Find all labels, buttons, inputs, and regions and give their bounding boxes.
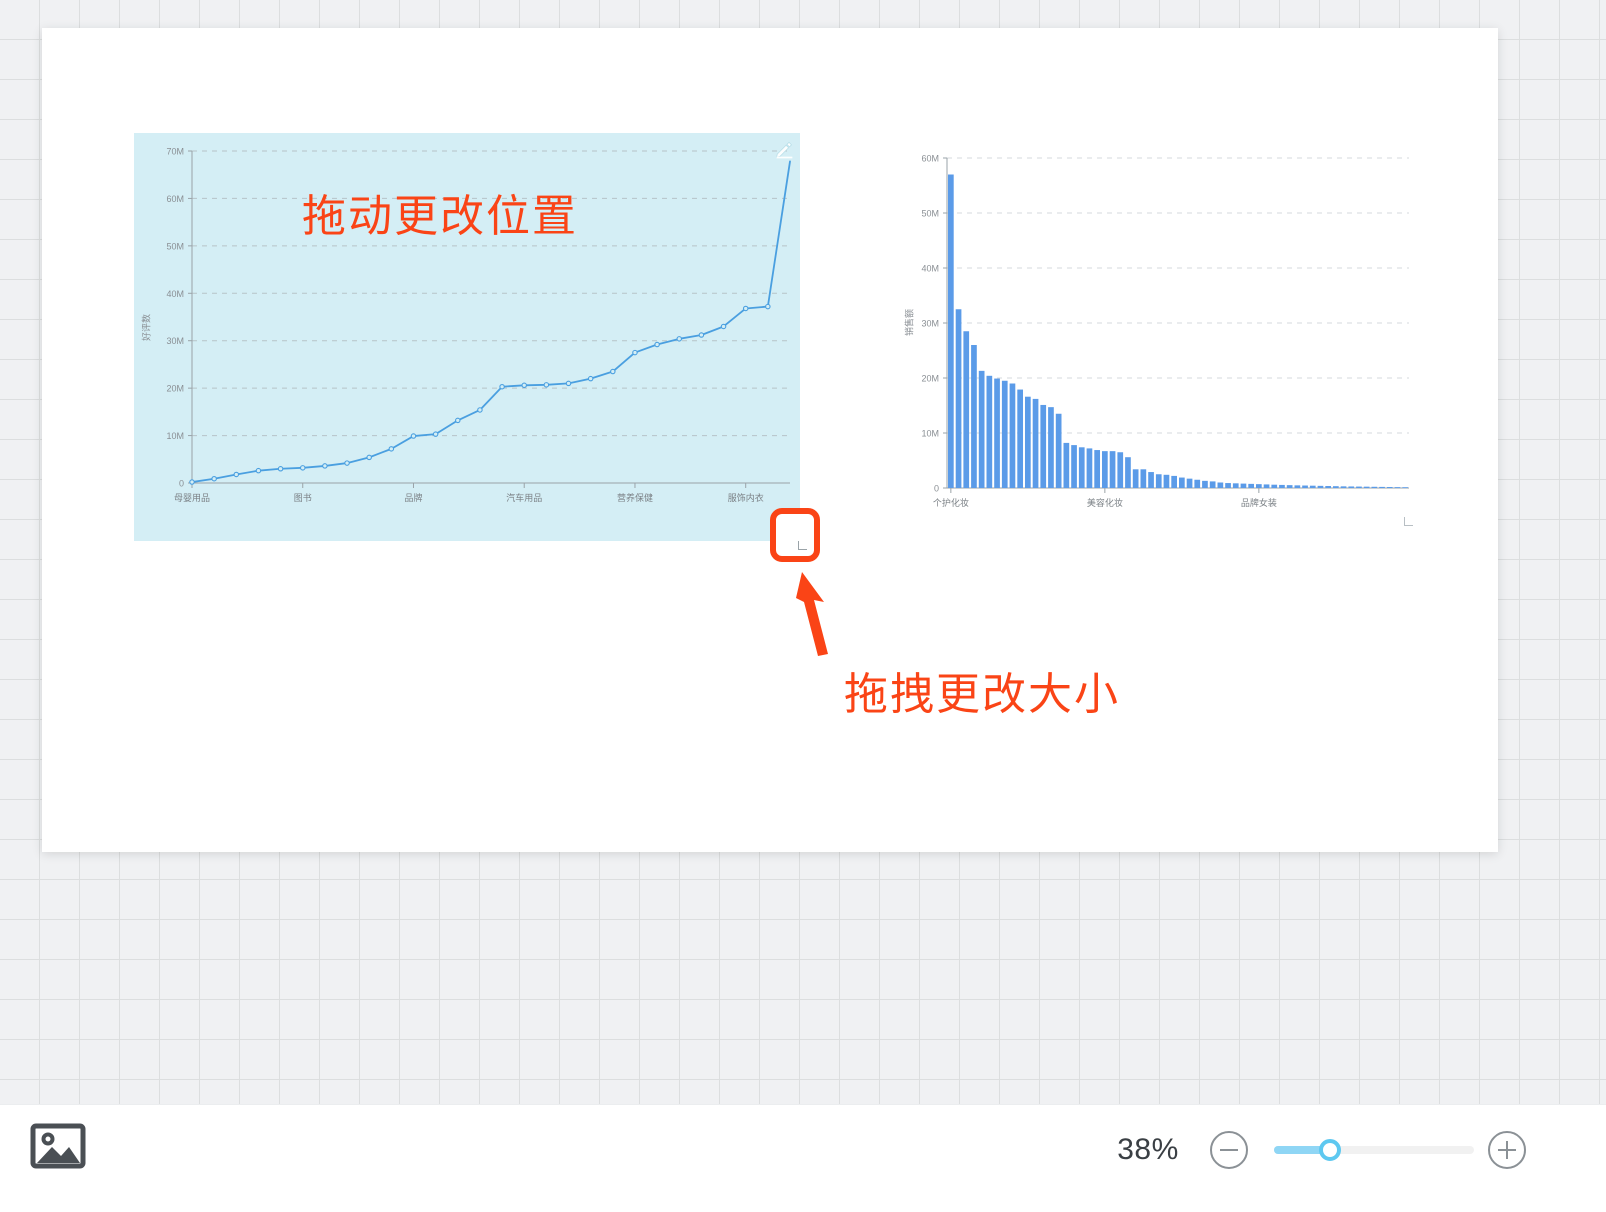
svg-text:0: 0 (179, 479, 184, 489)
zoom-out-button[interactable] (1210, 1131, 1248, 1169)
svg-text:品牌: 品牌 (404, 492, 422, 503)
svg-text:母婴用品: 母婴用品 (174, 493, 210, 503)
svg-text:品牌女装: 品牌女装 (1241, 497, 1277, 508)
image-icon[interactable] (30, 1123, 86, 1169)
pencil-edit-icon[interactable] (774, 139, 794, 159)
zoom-slider[interactable] (1274, 1146, 1474, 1154)
svg-text:50M: 50M (166, 241, 184, 251)
resize-corner-icon[interactable] (798, 541, 807, 550)
svg-text:50M: 50M (921, 209, 939, 219)
zoom-controls: 38% (1100, 1131, 1526, 1169)
annotation-arrow-icon (794, 568, 874, 658)
svg-text:70M: 70M (166, 147, 184, 157)
svg-text:20M: 20M (166, 384, 184, 394)
svg-text:30M: 30M (166, 336, 184, 346)
svg-text:营养保健: 营养保健 (617, 492, 653, 503)
bar-chart-plot: 010M20M30M40M50M60M 个护化妆美容化妆品牌女装 (897, 148, 1417, 528)
bar-chart-y-axis-title: 销售额 (903, 300, 916, 346)
svg-text:40M: 40M (921, 264, 939, 274)
svg-text:汽车用品: 汽车用品 (506, 492, 542, 503)
plus-icon-vertical (1506, 1141, 1508, 1159)
svg-text:个护化妆: 个护化妆 (933, 497, 969, 508)
svg-text:20M: 20M (921, 374, 939, 384)
minus-icon (1220, 1149, 1238, 1151)
svg-text:服饰内衣: 服饰内衣 (728, 492, 764, 503)
annotation-drag-to-resize: 拖拽更改大小 (844, 658, 1120, 722)
svg-text:0: 0 (934, 484, 939, 494)
svg-text:60M: 60M (166, 194, 184, 204)
zoom-slider-knob[interactable] (1319, 1139, 1341, 1161)
svg-text:图书: 图书 (294, 493, 312, 503)
zoom-percentage-label: 38% (1100, 1133, 1196, 1167)
svg-text:美容化妆: 美容化妆 (1087, 497, 1123, 508)
canvas-grid-background[interactable]: 010M20M30M40M50M60M70M 母婴用品图书品牌汽车用品营养保健服… (0, 0, 1606, 1104)
line-chart-y-axis-title: 好评数 (140, 305, 153, 351)
svg-text:30M: 30M (921, 319, 939, 329)
svg-text:40M: 40M (166, 289, 184, 299)
svg-text:60M: 60M (921, 154, 939, 164)
bar-chart-svg: 010M20M30M40M50M60M 个护化妆美容化妆品牌女装 (897, 148, 1417, 528)
image-icon-button[interactable] (30, 1123, 86, 1169)
zoom-in-button[interactable] (1488, 1131, 1526, 1169)
svg-text:10M: 10M (921, 429, 939, 439)
annotation-drag-to-move: 拖动更改位置 (302, 180, 578, 244)
bar-chart-widget[interactable]: 010M20M30M40M50M60M 个护化妆美容化妆品牌女装 销售额 (897, 148, 1417, 528)
resize-handle-highlight[interactable] (770, 508, 820, 562)
page-sheet[interactable]: 010M20M30M40M50M60M70M 母婴用品图书品牌汽车用品营养保健服… (42, 28, 1498, 852)
svg-text:10M: 10M (166, 431, 184, 441)
resize-corner-icon-right-chart[interactable] (1404, 517, 1413, 526)
